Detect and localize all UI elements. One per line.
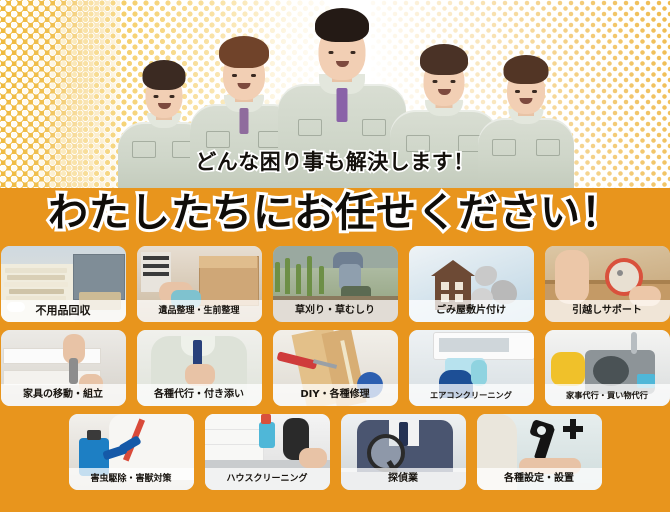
service-card[interactable]: DIY・各種修理: [273, 330, 398, 406]
service-card[interactable]: 不用品回収: [1, 246, 126, 322]
service-banner: どんな困り事も解決します！ わたしたちにお任せください！ 不用品回収: [0, 0, 670, 512]
service-row-2: 家具の移動・組立 各種代行・付き添い: [0, 330, 670, 406]
service-card[interactable]: 引越しサポート: [545, 246, 670, 322]
service-card[interactable]: ハウスクリーニング: [205, 414, 330, 490]
card-label: 引越しサポート: [545, 300, 670, 322]
card-label: 家具の移動・組立: [1, 384, 126, 406]
hero-section: どんな困り事も解決します！: [0, 0, 670, 188]
card-label: 不用品回収: [1, 300, 126, 322]
card-label: ごみ屋敷片付け: [409, 300, 534, 322]
card-label: 遺品整理・生前整理: [137, 300, 262, 322]
service-card[interactable]: 家具の移動・組立: [1, 330, 126, 406]
card-label: 家事代行・買い物代行: [545, 384, 670, 406]
main-headline: わたしたちにお任せください！: [0, 189, 670, 237]
card-label: エアコンクリーニング: [409, 384, 534, 406]
service-card[interactable]: 遺品整理・生前整理: [137, 246, 262, 322]
service-card[interactable]: 草刈り・草むしり: [273, 246, 398, 322]
service-row-3: 害虫駆除・害獣対策 ハウスクリーニング: [0, 414, 670, 490]
service-card[interactable]: 家事代行・買い物代行: [545, 330, 670, 406]
card-label: DIY・各種修理: [273, 384, 398, 406]
card-label: ハウスクリーニング: [205, 468, 330, 490]
service-card[interactable]: 探偵業: [341, 414, 466, 490]
service-card[interactable]: 各種設定・設置: [477, 414, 602, 490]
card-label: 各種設定・設置: [477, 468, 602, 490]
service-card[interactable]: ごみ屋敷片付け: [409, 246, 534, 322]
card-label: 害虫駆除・害獣対策: [69, 468, 194, 490]
service-card[interactable]: エアコンクリーニング: [409, 330, 534, 406]
hero-tagline: どんな困り事も解決します！: [0, 146, 670, 176]
card-label: 探偵業: [341, 468, 466, 490]
service-card[interactable]: 害虫駆除・害獣対策: [69, 414, 194, 490]
card-label: 各種代行・付き添い: [137, 384, 262, 406]
service-row-1: 不用品回収 遺品整理・生前整理: [0, 246, 670, 322]
service-card[interactable]: 各種代行・付き添い: [137, 330, 262, 406]
card-label: 草刈り・草むしり: [273, 300, 398, 322]
service-card-grid: 不用品回収 遺品整理・生前整理: [0, 246, 670, 498]
